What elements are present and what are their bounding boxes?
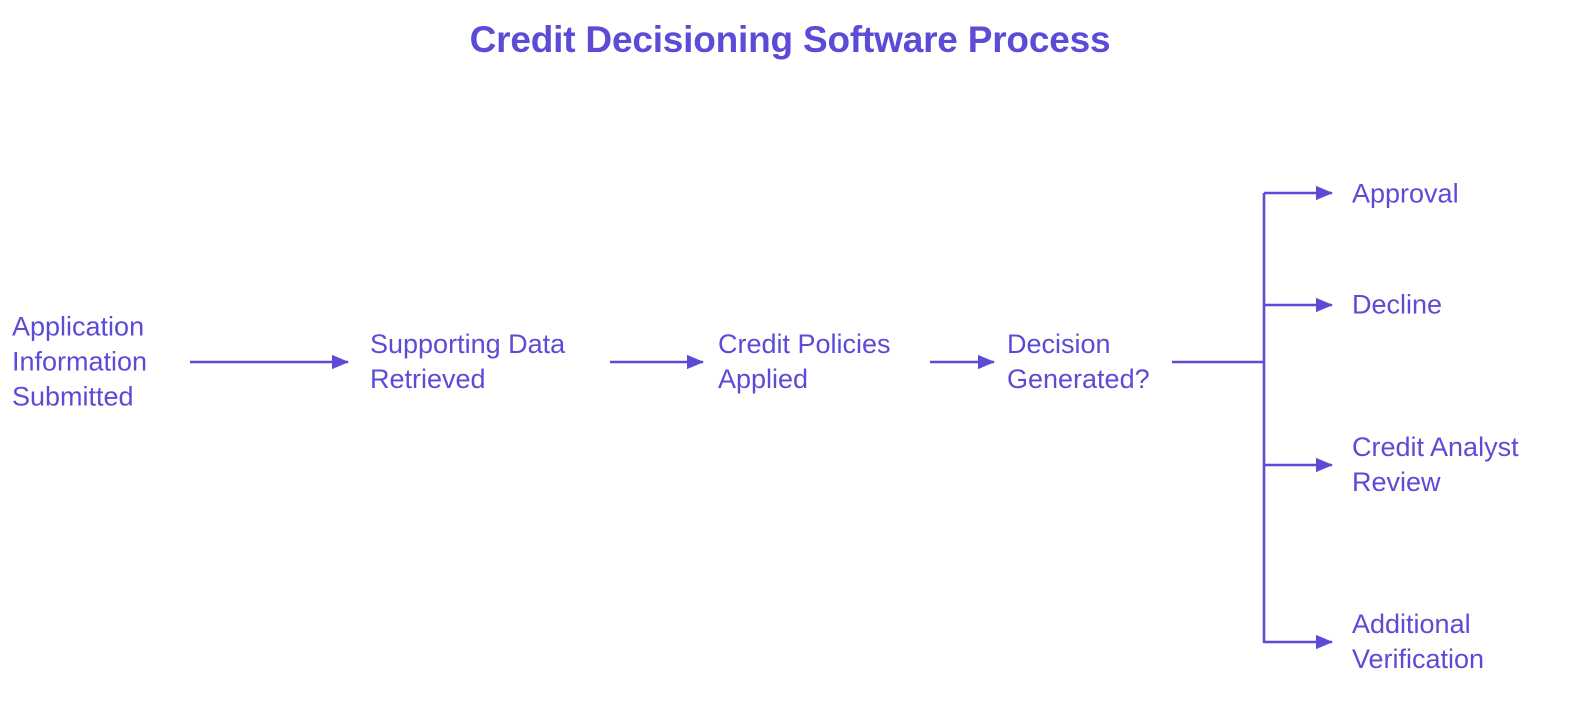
diagram-canvas: Credit Decisioning Software Process Appl… (0, 0, 1580, 704)
node-decision-generated: Decision Generated? (1007, 327, 1150, 397)
branch-approval: Approval (1352, 177, 1459, 212)
branch-additional-verification: Additional Verification (1352, 607, 1484, 677)
node-application-information-submitted: Application Information Submitted (12, 310, 147, 415)
page-title: Credit Decisioning Software Process (0, 20, 1580, 61)
node-supporting-data-retrieved: Supporting Data Retrieved (370, 327, 565, 397)
branch-credit-analyst-review: Credit Analyst Review (1352, 430, 1519, 500)
node-credit-policies-applied: Credit Policies Applied (718, 327, 891, 397)
branch-decline: Decline (1352, 288, 1442, 323)
